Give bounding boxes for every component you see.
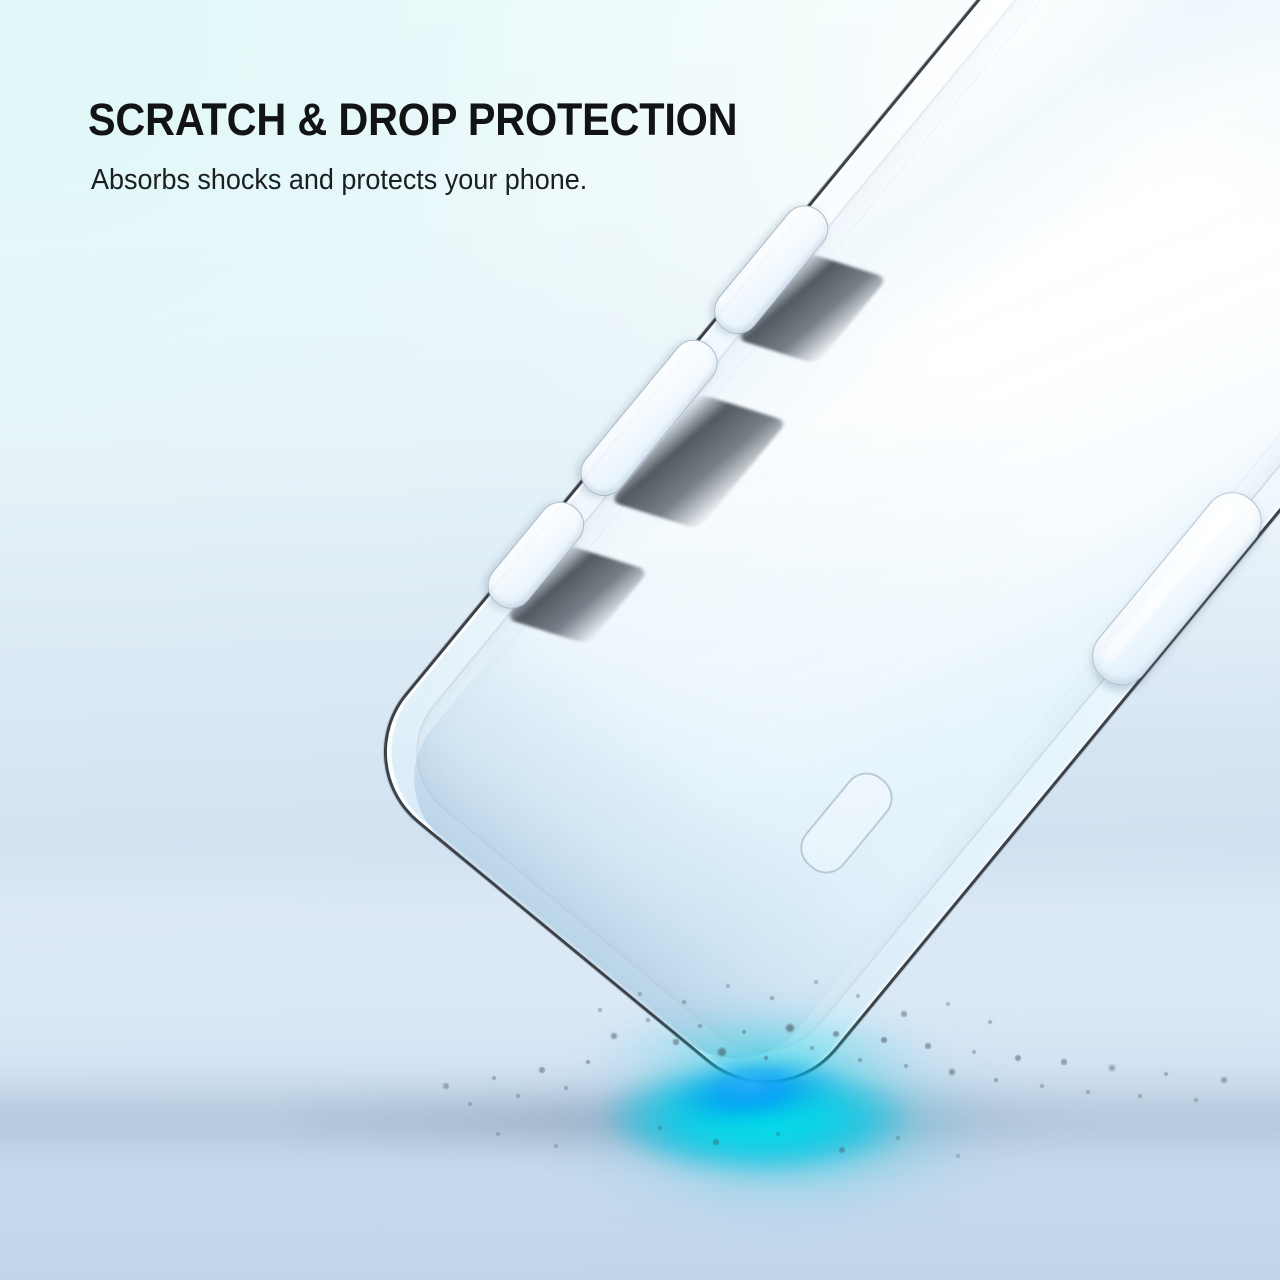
dust-particle [713, 1139, 719, 1145]
dust-particle [839, 1147, 845, 1153]
dust-particle [881, 1037, 887, 1043]
dust-particle [673, 1039, 678, 1044]
dust-particle [972, 1050, 976, 1054]
dust-particle [516, 1094, 520, 1098]
product-marketing-banner: SCRATCH & DROP PROTECTION Absorbs shocks… [0, 0, 1280, 1280]
dust-particle [901, 1011, 906, 1016]
dust-particle [904, 1064, 908, 1068]
dust-particle [833, 1031, 839, 1037]
dust-particle [1138, 1094, 1142, 1098]
dust-particle [1015, 1055, 1021, 1061]
dust-particle [742, 1030, 746, 1034]
dust-particle [810, 1046, 814, 1050]
dust-particle [718, 1048, 725, 1055]
page-subtitle: Absorbs shocks and protects your phone. [91, 166, 587, 195]
dust-particle [1040, 1084, 1044, 1088]
dust-particle [564, 1086, 568, 1090]
dust-particle [638, 992, 642, 996]
page-title: SCRATCH & DROP PROTECTION [88, 97, 737, 142]
dust-particle [1061, 1059, 1066, 1064]
dust-particle [1221, 1077, 1226, 1082]
dust-particle [468, 1102, 472, 1106]
dust-particle [925, 1043, 930, 1048]
dust-particle [443, 1083, 448, 1088]
dust-particle [946, 1002, 950, 1006]
dust-particle [776, 1132, 780, 1136]
dust-particle [814, 980, 818, 984]
dust-particle [554, 1144, 558, 1148]
dust-particle [956, 1154, 960, 1158]
dust-particle [598, 1008, 602, 1012]
dust-particle [726, 984, 730, 988]
dust-particle [698, 1024, 702, 1028]
dust-particle [1194, 1098, 1198, 1102]
dust-particle [539, 1067, 545, 1073]
